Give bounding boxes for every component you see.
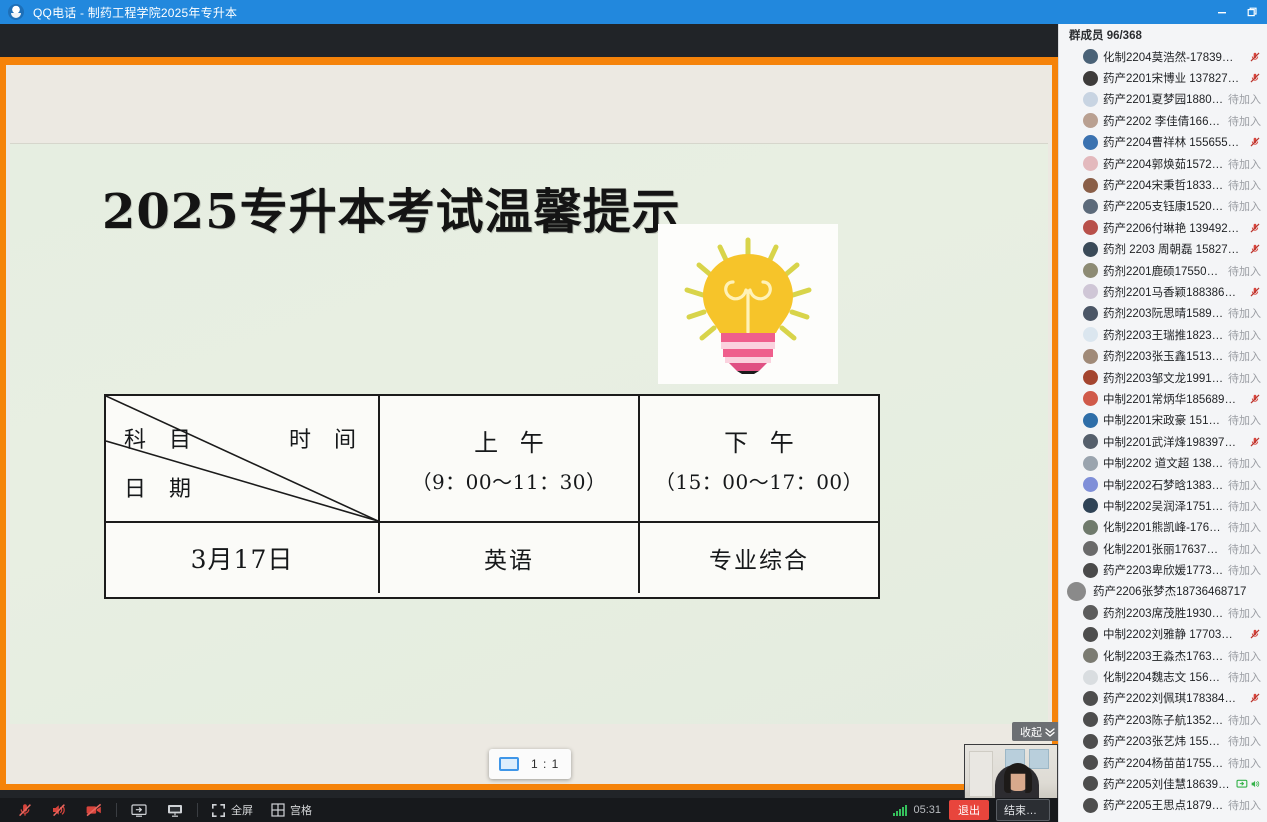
- sharing-active-icon: [1236, 778, 1261, 790]
- member-panel: 群成员 96/368 化制2204莫浩然-17839…药产2201宋博业 137…: [1058, 24, 1267, 822]
- avatar: [1083, 199, 1098, 214]
- member-status-badge: 待加入: [1228, 477, 1261, 493]
- member-name: 药剂2201鹿硕17550652…: [1103, 263, 1224, 279]
- mic-muted-icon: [1249, 286, 1261, 298]
- mic-muted-icon: [1249, 136, 1261, 148]
- member-list[interactable]: 化制2204莫浩然-17839…药产2201宋博业 137827…药产2201夏…: [1059, 46, 1267, 816]
- mic-muted-icon: [1249, 286, 1261, 298]
- member-list-item[interactable]: 药剂2203王瑞推182370…待加入: [1059, 324, 1267, 345]
- member-status-badge: 待加入: [1228, 198, 1261, 214]
- member-list-item[interactable]: 药剂2203席茂胜193039…待加入: [1059, 602, 1267, 623]
- avatar: [1083, 92, 1098, 107]
- member-list-item[interactable]: 化制2201熊凯峰-17638…待加入: [1059, 517, 1267, 538]
- avatar: [1083, 306, 1098, 321]
- member-status-badge: 待加入: [1228, 669, 1261, 685]
- header-date: 日 期: [124, 471, 199, 503]
- header-afternoon-cell: 下 午 （15：00～17：00）: [638, 396, 878, 521]
- avatar: [1083, 220, 1098, 235]
- member-list-item[interactable]: 药产2203张艺炜 155171…待加入: [1059, 731, 1267, 752]
- member-name: 药产2206付琳艳 139492…: [1103, 220, 1245, 236]
- camera-toggle-button[interactable]: [76, 798, 112, 822]
- self-video-tile[interactable]: 薛静15093632597: [964, 744, 1058, 798]
- header-morning-time: （9：00～11：30）: [411, 466, 606, 495]
- avatar: [1083, 670, 1098, 685]
- member-name: 药产2203张艺炜 155171…: [1103, 733, 1224, 749]
- member-name: 中制2202石梦晗138370…: [1103, 477, 1224, 493]
- header-afternoon-label: 下 午: [717, 423, 801, 458]
- avatar: [1083, 627, 1098, 642]
- member-status-badge: 待加入: [1228, 562, 1261, 578]
- call-timer: 05:31: [913, 804, 941, 816]
- member-status-badge: 待加入: [1228, 797, 1261, 813]
- avatar: [1083, 284, 1098, 299]
- cell-date: 3月17日: [106, 523, 378, 593]
- mic-muted-icon: [1249, 72, 1261, 84]
- member-name: 中制2201武洋烽198397…: [1103, 434, 1245, 450]
- member-list-item[interactable]: 药产2205支钰康152001…待加入: [1059, 196, 1267, 217]
- member-list-item[interactable]: 中制2202 道文超 13838…待加入: [1059, 452, 1267, 473]
- member-status-badge: 待加入: [1228, 91, 1261, 107]
- scale-label: 1 : 1: [531, 757, 559, 771]
- member-name: 药产2205王思点187906…: [1103, 797, 1224, 813]
- chevron-double-down-icon: [1044, 726, 1056, 738]
- avatar: [1083, 498, 1098, 513]
- avatar: [1083, 391, 1098, 406]
- avatar: [1083, 135, 1098, 150]
- mic-muted-icon: [1249, 692, 1261, 704]
- member-list-item[interactable]: 药剂2201鹿硕17550652…待加入: [1059, 260, 1267, 281]
- mic-muted-icon: [1249, 222, 1261, 234]
- qq-call-window: QQ电话 - 制药工程学院2025年专升本 2025专升本考试温馨提示: [0, 0, 1267, 822]
- avatar: [1083, 49, 1098, 64]
- member-name: 化制2203王淼杰176305…: [1103, 648, 1224, 664]
- member-status-badge: 待加入: [1228, 348, 1261, 364]
- member-name: 中制2201常炳华185689…: [1103, 391, 1245, 407]
- window-title: QQ电话 - 制药工程学院2025年专升本: [33, 4, 237, 21]
- signal-bars-icon: [893, 805, 907, 816]
- grid-view-button[interactable]: 宫格: [262, 798, 321, 822]
- call-toolbar: 全屏 宫格 05:31 退出 结束通...: [0, 798, 1058, 822]
- mic-muted-icon: [1249, 436, 1261, 448]
- avatar: [1067, 582, 1086, 601]
- exit-button[interactable]: 退出: [949, 800, 989, 820]
- mic-muted-icon: [17, 802, 33, 818]
- member-list-item[interactable]: 药产2202 李佳倩16692…待加入: [1059, 110, 1267, 131]
- fullscreen-label: 全屏: [231, 802, 253, 818]
- member-list-item[interactable]: 药产2201宋博业 137827…: [1059, 67, 1267, 88]
- cell-date-text: 3月17日: [191, 540, 294, 576]
- member-status-badge: 待加入: [1228, 113, 1261, 129]
- member-list-item[interactable]: 药产2206张梦杰18736468717: [1059, 581, 1267, 602]
- avatar: [1083, 370, 1098, 385]
- member-name: 药产2202 李佳倩16692…: [1103, 113, 1224, 129]
- whiteboard-button[interactable]: [157, 798, 193, 822]
- avatar: [1083, 734, 1098, 749]
- share-screen-icon: [130, 802, 148, 818]
- member-name: 药产2201夏梦园188073…: [1103, 91, 1224, 107]
- mic-muted-icon: [1249, 628, 1261, 640]
- member-name: 药产2205刘佳慧186390…: [1103, 776, 1232, 792]
- fullscreen-button[interactable]: 全屏: [202, 798, 262, 822]
- mic-muted-icon: [1249, 243, 1261, 255]
- member-status-badge: 待加入: [1228, 541, 1261, 557]
- speaker-muted-icon: [51, 802, 67, 818]
- member-status-badge: 待加入: [1228, 712, 1261, 728]
- lightbulb-icon: [673, 234, 823, 374]
- mic-muted-icon: [1249, 222, 1261, 234]
- member-name: 药产2204曹祥林 155655…: [1103, 134, 1245, 150]
- member-name: 化制2204莫浩然-17839…: [1103, 49, 1245, 65]
- avatar: [1083, 156, 1098, 171]
- member-name: 中制2202刘雅静 17703…: [1103, 626, 1245, 642]
- member-name: 药产2204郭焕茹157261…: [1103, 156, 1224, 172]
- fullscreen-icon: [211, 803, 226, 818]
- avatar: [1083, 413, 1098, 428]
- member-list-item[interactable]: 药产2204杨苗苗175506…待加入: [1059, 752, 1267, 773]
- member-name: 药产2204宋秉哲183384…: [1103, 177, 1224, 193]
- mic-muted-icon: [1249, 51, 1261, 63]
- member-list-item[interactable]: 化制2204魏志文 15690…待加入: [1059, 666, 1267, 687]
- restore-icon[interactable]: [1237, 0, 1267, 24]
- member-name: 药剂 2203 周朝磊 15827…: [1103, 241, 1245, 257]
- speaker-toggle-button[interactable]: [42, 798, 76, 822]
- member-list-item[interactable]: 中制2202石梦晗138370…待加入: [1059, 474, 1267, 495]
- member-list-item[interactable]: 药剂2203阮思晴158965…待加入: [1059, 303, 1267, 324]
- exam-schedule-table: 科 目 时 间 日 期 上 午 （9：00～11：30） 下 午 （15：00～…: [104, 394, 880, 599]
- qq-logo-icon: [8, 4, 24, 20]
- avatar: [1083, 691, 1098, 706]
- member-status-badge: 待加入: [1228, 648, 1261, 664]
- lightbulb-illustration: [658, 224, 838, 384]
- shared-screen-frame: 2025专升本考试温馨提示: [0, 57, 1058, 790]
- header-morning-label: 上 午: [467, 423, 551, 458]
- member-name: 药剂2203阮思晴158965…: [1103, 305, 1224, 321]
- member-status-badge: 待加入: [1228, 412, 1261, 428]
- mic-muted-icon: [1249, 393, 1261, 405]
- avatar: [1083, 712, 1098, 727]
- member-list-item[interactable]: 药产2206付琳艳 139492…: [1059, 217, 1267, 238]
- collapse-label: 收起: [1020, 724, 1042, 740]
- member-list-item[interactable]: 药产2205王思点187906…待加入: [1059, 795, 1267, 816]
- avatar: [1083, 520, 1098, 535]
- member-name: 药剂2203张玉鑫151381…: [1103, 348, 1224, 364]
- mic-muted-icon: [1249, 72, 1261, 84]
- member-list-item[interactable]: 化制2204莫浩然-17839…: [1059, 46, 1267, 67]
- member-name: 化制2204魏志文 15690…: [1103, 669, 1224, 685]
- cell-morning: 英语: [378, 523, 638, 593]
- end-call-button[interactable]: 结束通...: [996, 799, 1050, 821]
- member-name: 中制2202 道文超 13838…: [1103, 455, 1224, 471]
- member-list-item[interactable]: 中制2202刘雅静 17703…: [1059, 624, 1267, 645]
- avatar: [1083, 605, 1098, 620]
- member-status-badge: 待加入: [1228, 327, 1261, 343]
- whiteboard-icon: [166, 802, 184, 818]
- header-afternoon-time: （15：00～17：00）: [655, 466, 863, 495]
- member-name: 药剂2203王瑞推182370…: [1103, 327, 1224, 343]
- video-cabinet-right: [1029, 749, 1049, 769]
- slide-title: 2025专升本考试温馨提示: [102, 172, 681, 242]
- member-status-badge: 待加入: [1228, 263, 1261, 279]
- member-status-badge: 待加入: [1228, 177, 1261, 193]
- audio-on-icon: [1250, 778, 1261, 790]
- mic-muted-icon: [1249, 692, 1261, 704]
- meeting-stage: 2025专升本考试温馨提示: [0, 24, 1058, 798]
- member-list-item[interactable]: 化制2201张丽17637648…待加入: [1059, 538, 1267, 559]
- toolbar-divider-2: [197, 803, 198, 817]
- member-list-item[interactable]: 药产2204郭焕茹157261…待加入: [1059, 153, 1267, 174]
- member-status-badge: 待加入: [1228, 755, 1261, 771]
- share-screen-icon: [1236, 778, 1248, 790]
- avatar: [1083, 541, 1098, 556]
- header-morning-cell: 上 午 （9：00～11：30）: [378, 396, 638, 521]
- avatar: [1083, 648, 1098, 663]
- toolbar-divider: [116, 803, 117, 817]
- minimize-icon[interactable]: [1207, 0, 1237, 24]
- member-name: 药剂2201马香颖188386…: [1103, 284, 1245, 300]
- member-list-item[interactable]: 药产2201夏梦园188073…待加入: [1059, 89, 1267, 110]
- mic-toggle-button[interactable]: [8, 798, 42, 822]
- member-name: 药产2201宋博业 137827…: [1103, 70, 1245, 86]
- avatar: [1083, 563, 1098, 578]
- member-list-item[interactable]: 药产2203陈子航135237…待加入: [1059, 709, 1267, 730]
- collapse-video-button[interactable]: 收起: [1012, 722, 1058, 741]
- member-status-badge: 待加入: [1228, 370, 1261, 386]
- grid-icon: [271, 803, 285, 817]
- scale-indicator[interactable]: 1 : 1: [489, 749, 571, 779]
- member-status-badge: 待加入: [1228, 305, 1261, 321]
- avatar: [1083, 349, 1098, 364]
- member-name: 药剂2203邹文龙199134…: [1103, 370, 1224, 386]
- diagonal-header-cell: 科 目 时 间 日 期: [106, 396, 378, 521]
- member-name: 中制2201宋政豪 151363…: [1103, 412, 1224, 428]
- member-list-item[interactable]: 药剂2203张玉鑫151381…待加入: [1059, 345, 1267, 366]
- member-list-item[interactable]: 中制2201常炳华185689…: [1059, 388, 1267, 409]
- table-row: 3月17日 英语 专业综合: [106, 521, 878, 593]
- member-list-item[interactable]: 药产2203卑欣媛177392…待加入: [1059, 559, 1267, 580]
- member-list-item[interactable]: 药产2202刘佩琪178384…: [1059, 688, 1267, 709]
- grid-label: 宫格: [290, 802, 312, 818]
- member-list-item[interactable]: 中制2201宋政豪 151363…待加入: [1059, 410, 1267, 431]
- member-name: 化制2201张丽17637648…: [1103, 541, 1224, 557]
- member-name: 中制2202吴润泽175187…: [1103, 498, 1224, 514]
- member-status-badge: 待加入: [1228, 733, 1261, 749]
- member-list-item[interactable]: 药剂2203邹文龙199134…待加入: [1059, 367, 1267, 388]
- table-header-row: 科 目 时 间 日 期 上 午 （9：00～11：30） 下 午 （15：00～…: [106, 396, 878, 521]
- member-list-item[interactable]: 中制2201武洋烽198397…: [1059, 431, 1267, 452]
- member-status-badge: 待加入: [1228, 455, 1261, 471]
- member-list-item[interactable]: 中制2202吴润泽175187…待加入: [1059, 495, 1267, 516]
- shared-slide: 2025专升本考试温馨提示: [6, 65, 1052, 784]
- header-subject: 科 目: [124, 422, 199, 454]
- member-status-badge: 待加入: [1228, 605, 1261, 621]
- header-time: 时 间: [289, 422, 364, 454]
- avatar: [1083, 263, 1098, 278]
- mic-muted-icon: [1249, 243, 1261, 255]
- mic-muted-icon: [1249, 393, 1261, 405]
- cell-afternoon: 专业综合: [638, 523, 878, 593]
- slide-canvas: 2025专升本考试温馨提示: [10, 143, 1048, 724]
- avatar: [1083, 327, 1098, 342]
- avatar: [1083, 434, 1098, 449]
- member-list-item[interactable]: 药产2205刘佳慧186390…: [1059, 773, 1267, 794]
- member-name: 药产2206张梦杰18736468717: [1093, 583, 1261, 599]
- camera-muted-icon: [85, 802, 103, 818]
- member-list-item[interactable]: 药剂 2203 周朝磊 15827…: [1059, 239, 1267, 260]
- member-list-item[interactable]: 化制2203王淼杰176305…待加入: [1059, 645, 1267, 666]
- avatar: [1083, 755, 1098, 770]
- avatar: [1083, 113, 1098, 128]
- mic-muted-icon: [1249, 136, 1261, 148]
- member-name: 化制2201熊凯峰-17638…: [1103, 519, 1224, 535]
- avatar: [1083, 178, 1098, 193]
- member-name: 药产2203卑欣媛177392…: [1103, 562, 1224, 578]
- avatar: [1083, 71, 1098, 86]
- member-name: 药产2203陈子航135237…: [1103, 712, 1224, 728]
- member-count-header: 群成员 96/368: [1059, 24, 1267, 46]
- cell-afternoon-text: 专业综合: [709, 541, 809, 575]
- title-bar: QQ电话 - 制药工程学院2025年专升本: [0, 0, 1267, 24]
- member-name: 药剂2203席茂胜193039…: [1103, 605, 1224, 621]
- member-name: 药产2205支钰康152001…: [1103, 198, 1224, 214]
- member-list-item[interactable]: 药产2204曹祥林 155655…: [1059, 132, 1267, 153]
- mic-muted-icon: [1249, 51, 1261, 63]
- member-list-item[interactable]: 药剂2201马香颖188386…: [1059, 281, 1267, 302]
- mic-muted-icon: [1249, 628, 1261, 640]
- avatar: [1083, 798, 1098, 813]
- video-door: [969, 751, 993, 797]
- member-status-badge: 待加入: [1228, 498, 1261, 514]
- avatar: [1083, 776, 1098, 791]
- member-name: 药产2204杨苗苗175506…: [1103, 755, 1224, 771]
- member-name: 药产2202刘佩琪178384…: [1103, 690, 1245, 706]
- cell-morning-text: 英语: [484, 541, 534, 575]
- member-list-item[interactable]: 药产2204宋秉哲183384…待加入: [1059, 174, 1267, 195]
- screen-rect-icon: [499, 757, 519, 771]
- member-status-badge: 待加入: [1228, 519, 1261, 535]
- share-screen-button[interactable]: [121, 798, 157, 822]
- avatar: [1083, 242, 1098, 257]
- avatar: [1083, 456, 1098, 471]
- mic-muted-icon: [1249, 436, 1261, 448]
- member-status-badge: 待加入: [1228, 156, 1261, 172]
- avatar: [1083, 477, 1098, 492]
